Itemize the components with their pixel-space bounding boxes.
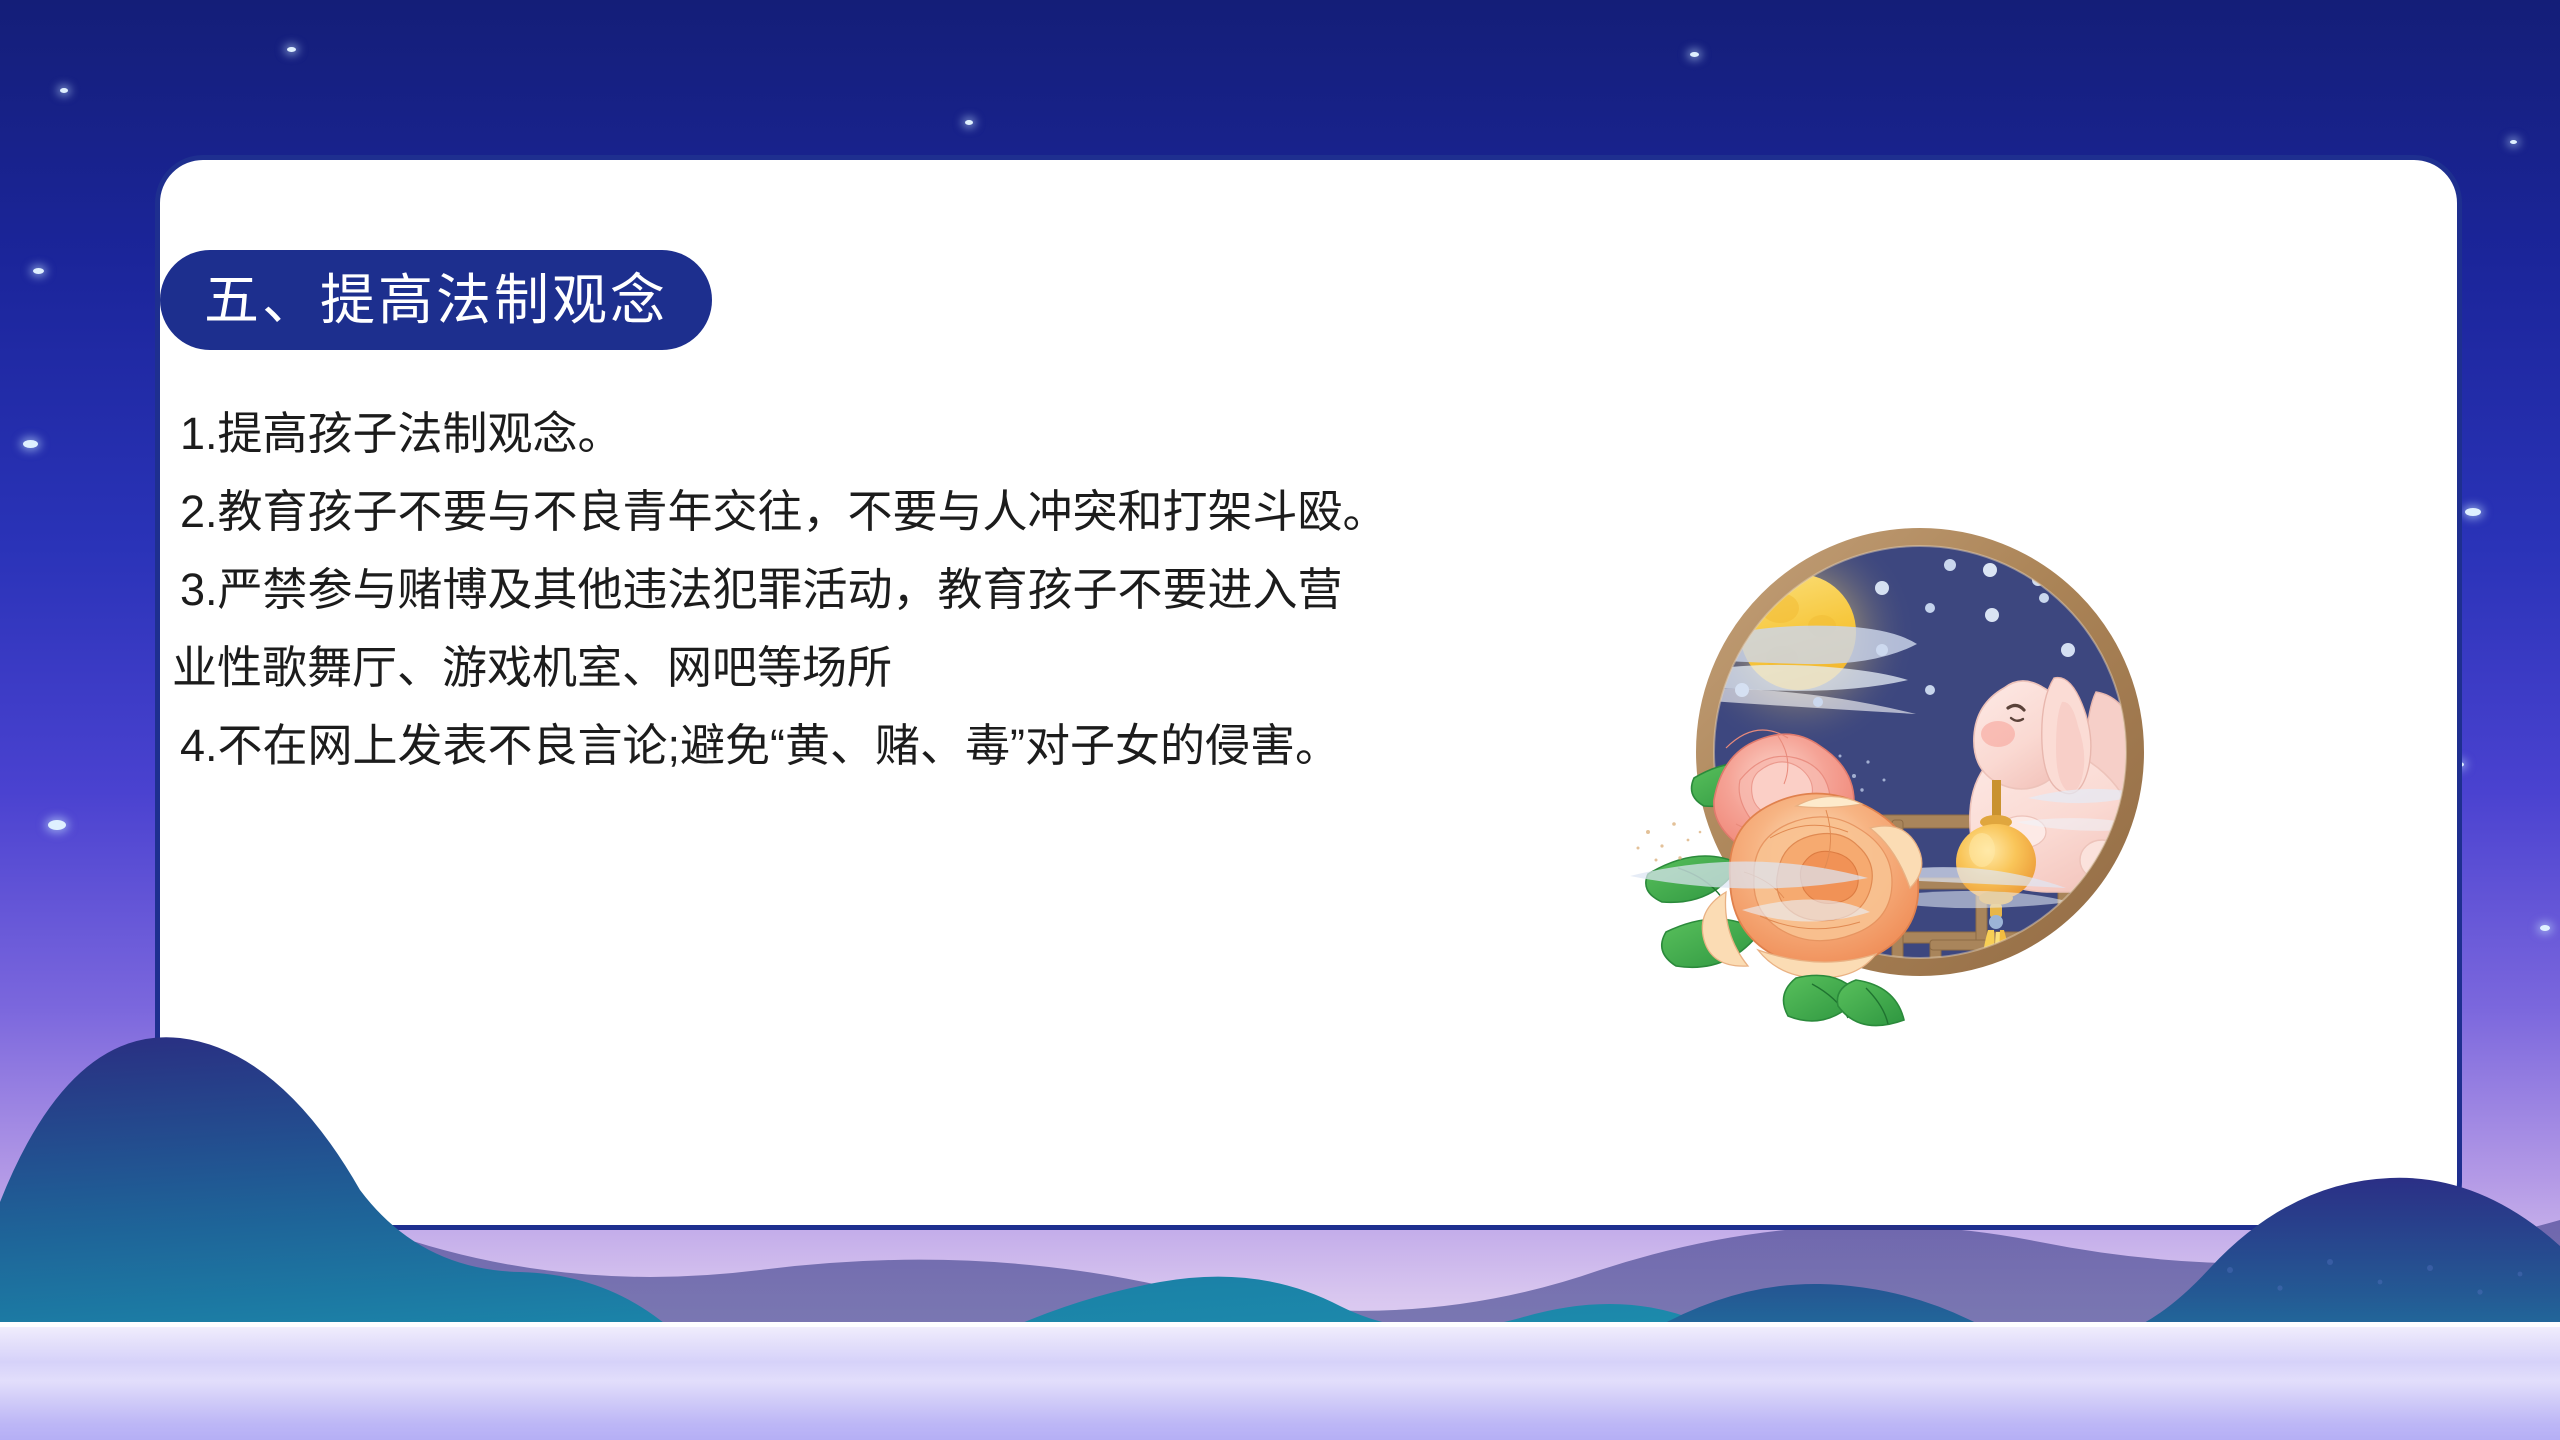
star-icon <box>965 120 973 125</box>
list-item: 3.严禁参与赌博及其他违法犯罪活动，教育孩子不要进入营 <box>180 551 1680 629</box>
body-text-list: 1.提高孩子法制观念。 2.教育孩子不要与不良青年交往，不要与人冲突和打架斗殴。… <box>180 395 1680 785</box>
mid-autumn-illustration <box>1630 480 2220 1060</box>
slide-root: 五、提高法制观念 1.提高孩子法制观念。 2.教育孩子不要与不良青年交往，不要与… <box>0 0 2560 1440</box>
section-title-badge: 五、提高法制观念 <box>160 250 712 350</box>
star-icon <box>33 268 44 274</box>
star-icon <box>23 440 38 448</box>
star-icon <box>1690 52 1699 57</box>
star-icon <box>48 820 66 830</box>
list-item: 1.提高孩子法制观念。 <box>180 395 1680 473</box>
leaf-icon <box>1837 980 1904 1026</box>
star-icon <box>115 1105 126 1111</box>
list-item-continuation: 业性歌舞厅、游戏机室、网吧等场所 <box>172 629 1680 707</box>
star-icon <box>2465 508 2481 516</box>
water-reflection <box>0 1322 2560 1440</box>
list-item: 4.不在网上发表不良言论;避免“黄、赌、毒”对子女的侵害。 <box>180 707 1680 785</box>
star-icon <box>287 47 296 52</box>
star-icon <box>60 88 68 93</box>
list-item: 2.教育孩子不要与不良青年交往，不要与人冲突和打架斗殴。 <box>180 473 1680 551</box>
star-icon <box>2510 140 2517 144</box>
star-icon <box>2540 925 2550 931</box>
page-title: 五、提高法制观念 <box>204 273 668 328</box>
